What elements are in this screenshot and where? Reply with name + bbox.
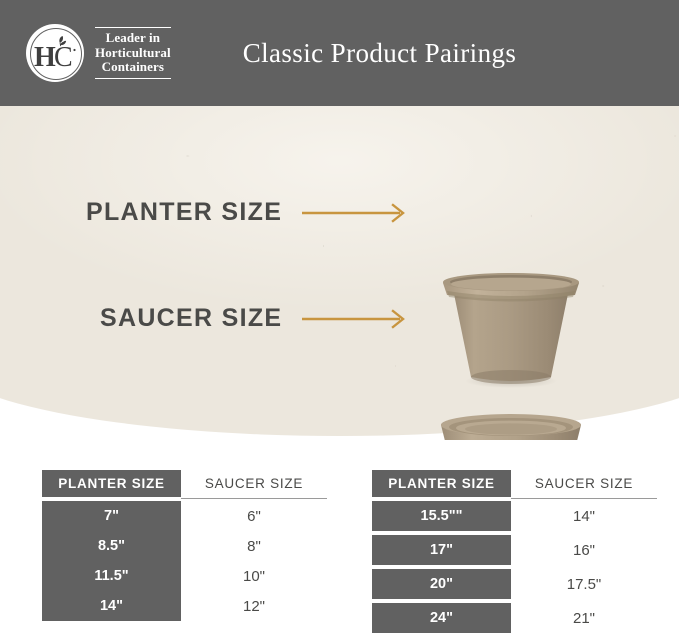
hero-row-saucer: SAUCER SIZE	[100, 304, 412, 333]
table-body: 7" 6" 8.5" 8" 11.5" 10" 14" 12"	[42, 501, 327, 621]
table-row: 24" 21"	[372, 603, 657, 633]
hero-row-planter: PLANTER SIZE	[86, 198, 412, 227]
cell-planter-size: 15.5""	[372, 501, 511, 531]
saucer-dish-image	[438, 407, 584, 440]
table-row: 8.5" 8"	[42, 531, 327, 561]
size-tables: PLANTER SIZE SAUCER SIZE 7" 6" 8.5" 8" 1…	[0, 470, 679, 636]
size-table-large: PLANTER SIZE SAUCER SIZE 15.5"" 14" 17" …	[372, 470, 657, 633]
hero-section: PLANTER SIZE SAUCER SIZE	[0, 106, 679, 440]
size-table-small: PLANTER SIZE SAUCER SIZE 7" 6" 8.5" 8" 1…	[42, 470, 327, 621]
column-header-saucer-size: SAUCER SIZE	[511, 470, 657, 497]
arrow-right-icon	[300, 309, 412, 329]
table-row: 20" 17.5"	[372, 569, 657, 599]
cell-planter-size: 20"	[372, 569, 511, 599]
planter-pot-image	[437, 269, 585, 394]
cell-saucer-size: 17.5"	[511, 569, 657, 599]
column-header-planter-size: PLANTER SIZE	[42, 470, 181, 497]
arrow-right-icon	[300, 203, 412, 223]
table-row: 15.5"" 14"	[372, 501, 657, 531]
hero-label-saucer-size: SAUCER SIZE	[100, 304, 282, 333]
table-row: 7" 6"	[42, 501, 327, 531]
table-row: 17" 16"	[372, 535, 657, 565]
svg-text:H: H	[34, 42, 56, 73]
cell-planter-size: 8.5"	[42, 531, 181, 561]
cell-saucer-size: 14"	[511, 501, 657, 531]
svg-text:C: C	[54, 42, 73, 73]
cell-saucer-size: 16"	[511, 535, 657, 565]
cell-saucer-size: 21"	[511, 603, 657, 633]
table-row: 11.5" 10"	[42, 561, 327, 591]
cell-planter-size: 14"	[42, 591, 181, 621]
page-header: H C Leader in Horticultural Containers C…	[0, 0, 679, 106]
cell-saucer-size: 12"	[181, 591, 327, 621]
column-header-planter-size: PLANTER SIZE	[372, 470, 511, 497]
column-header-saucer-size: SAUCER SIZE	[181, 470, 327, 497]
page-title: Classic Product Pairings	[0, 0, 679, 106]
cell-planter-size: 24"	[372, 603, 511, 633]
table-header-row: PLANTER SIZE SAUCER SIZE	[372, 470, 657, 497]
product-pairings-infographic: H C Leader in Horticultural Containers C…	[0, 0, 679, 636]
table-row: 14" 12"	[42, 591, 327, 621]
cell-planter-size: 11.5"	[42, 561, 181, 591]
table-body: 15.5"" 14" 17" 16" 20" 17.5" 24" 21"	[372, 501, 657, 633]
cell-planter-size: 17"	[372, 535, 511, 565]
cell-saucer-size: 8"	[181, 531, 327, 561]
hero-label-planter-size: PLANTER SIZE	[86, 198, 282, 227]
cell-saucer-size: 6"	[181, 501, 327, 531]
cell-saucer-size: 10"	[181, 561, 327, 591]
cell-planter-size: 7"	[42, 501, 181, 531]
table-header-row: PLANTER SIZE SAUCER SIZE	[42, 470, 327, 497]
